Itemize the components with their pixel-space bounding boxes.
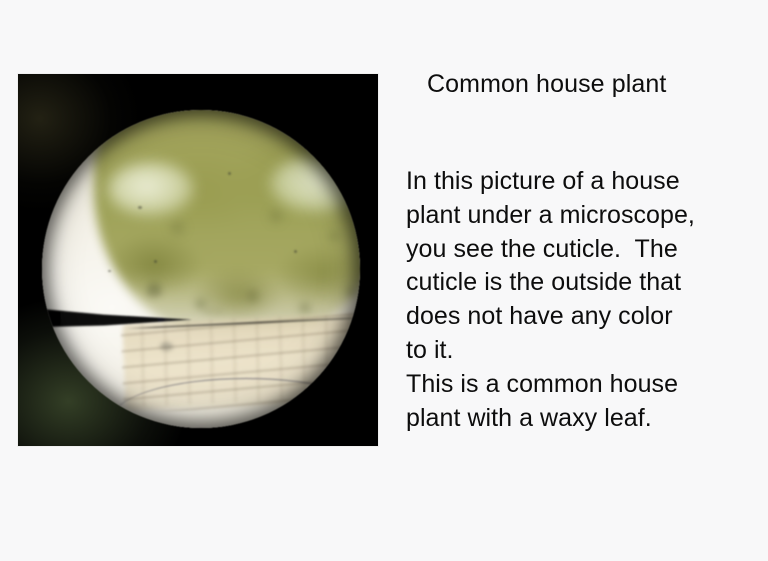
body-line: you see the cuticle. The [406,233,758,267]
debris-speck [202,306,224,316]
body-line: does not have any color [406,300,758,334]
body-line: plant under a microscope, [406,199,758,233]
body-paragraph: This is a common houseplant with a waxy … [406,368,758,436]
debris-speck [160,342,173,351]
body-line: to it. [406,334,758,368]
photo-black-surround [18,74,378,446]
body-line: In this picture of a house [406,165,758,199]
microscope-field-of-view [42,110,360,428]
body-line: cuticle is the outside that [406,266,758,300]
illumination-highlight-left [108,162,194,216]
debris-speck [294,250,297,253]
slide-title: Common house plant [427,69,666,99]
debris-speck [138,206,142,209]
debris-speck [154,260,157,263]
slide-body-text: In this picture of a houseplant under a … [406,165,758,435]
microscope-photo [18,74,378,446]
body-line: plant with a waxy leaf. [406,402,758,436]
dissecting-needle-icon [42,306,194,332]
debris-speck [228,172,231,175]
illumination-highlight-right [270,156,360,212]
body-line: This is a common house [406,368,758,402]
slide-canvas: Common house plant In this picture of a … [0,0,768,561]
body-paragraph: In this picture of a houseplant under a … [406,165,758,368]
debris-speck [146,286,162,298]
debris-speck [108,270,111,272]
